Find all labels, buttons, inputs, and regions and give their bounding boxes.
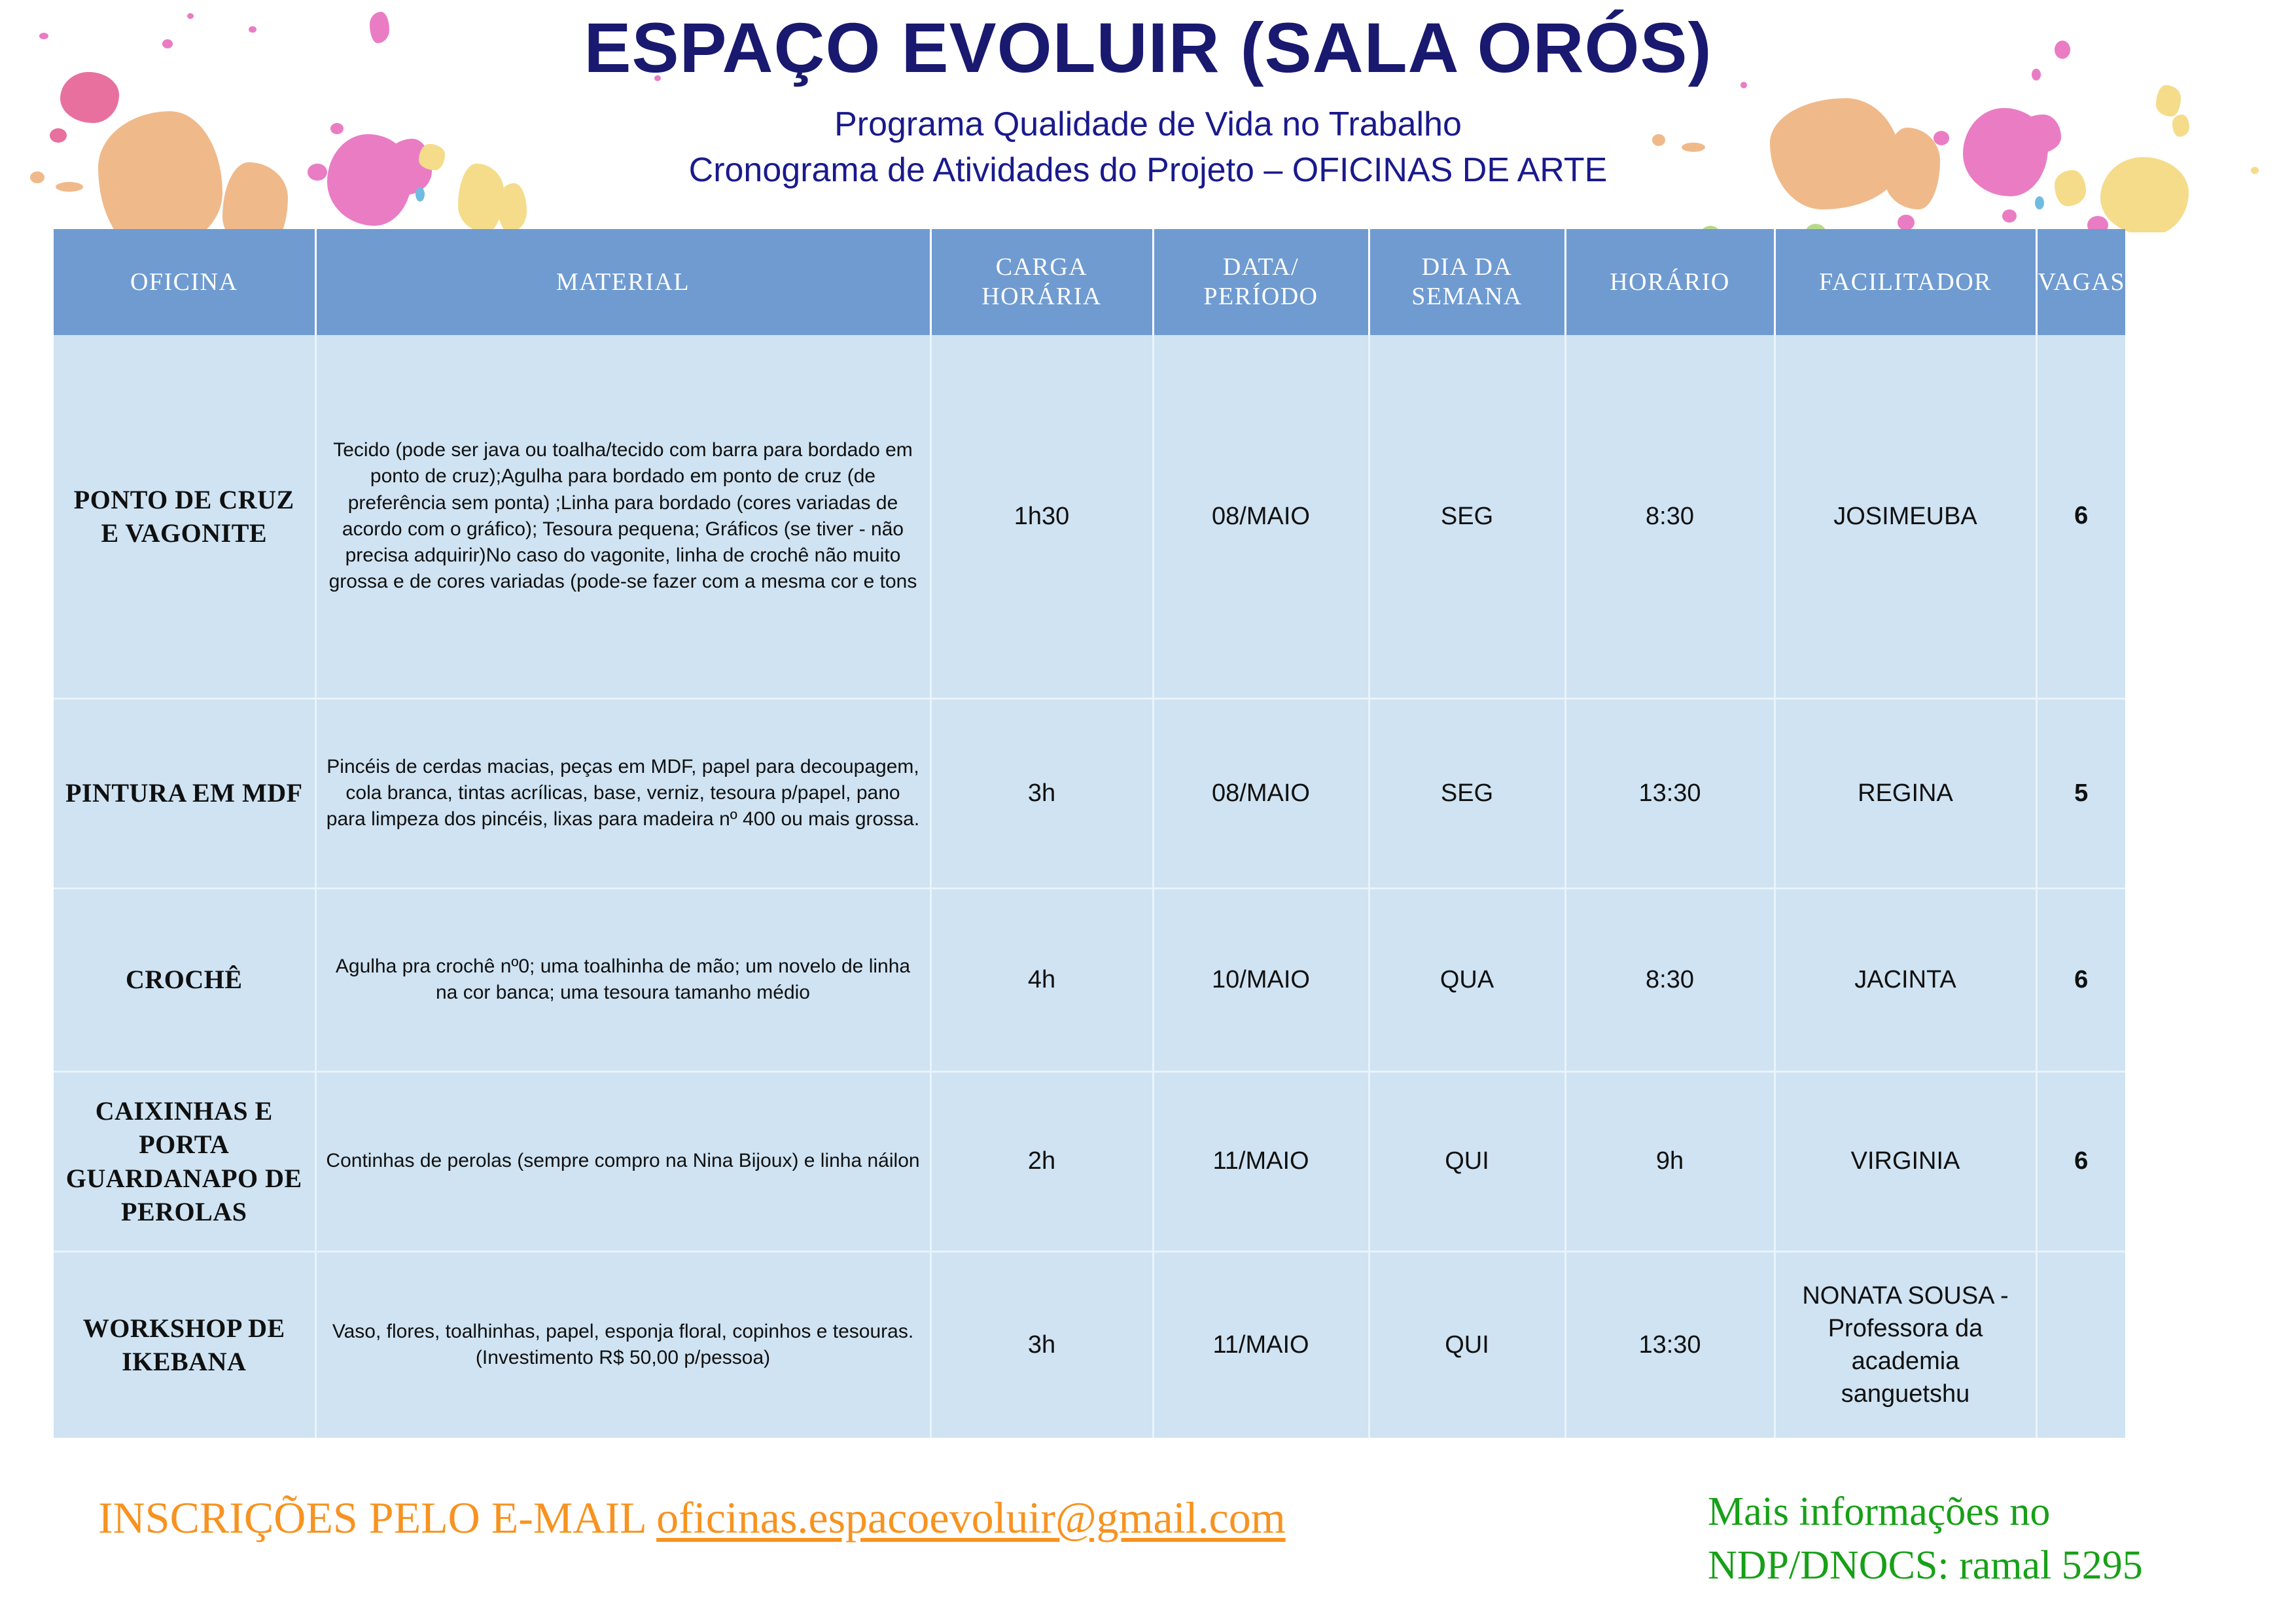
cell-facilitador: JOSIMEUBA	[1775, 335, 2036, 698]
column-header-vagas: VAGAS	[2036, 229, 2125, 335]
schedule-table: OFICINA MATERIAL CARGA HORÁRIA DATA/ PER…	[54, 229, 2125, 1438]
table-header-row: OFICINA MATERIAL CARGA HORÁRIA DATA/ PER…	[54, 229, 2125, 335]
column-header-carga-horaria: CARGA HORÁRIA	[930, 229, 1153, 335]
table-row: CROCHÊ Agulha pra crochê nº0; uma toalhi…	[54, 888, 2125, 1071]
cell-vagas	[2036, 1251, 2125, 1438]
table-body: PONTO DE CRUZ E VAGONITE Tecido (pode se…	[54, 335, 2125, 1438]
column-header-carga-line1: CARGA	[996, 253, 1088, 281]
column-header-carga-line2: HORÁRIA	[981, 283, 1102, 310]
schedule-table-container: OFICINA MATERIAL CARGA HORÁRIA DATA/ PER…	[54, 229, 2125, 1438]
cell-dia-semana: SEG	[1369, 698, 1565, 888]
cell-facilitador: VIRGINIA	[1775, 1071, 2036, 1251]
schedule-subtitle: Cronograma de Atividades do Projeto – OF…	[0, 147, 2296, 193]
cell-data-periodo: 10/MAIO	[1153, 888, 1369, 1071]
splatter-dot	[2035, 196, 2044, 209]
cell-horario: 13:30	[1565, 698, 1775, 888]
cell-horario: 8:30	[1565, 888, 1775, 1071]
cell-vagas: 6	[2036, 1071, 2125, 1251]
cell-oficina: PINTURA EM MDF	[54, 698, 315, 888]
cell-carga-horaria: 3h	[930, 698, 1153, 888]
column-header-horario: HORÁRIO	[1565, 229, 1775, 335]
column-header-data-periodo: DATA/ PERÍODO	[1153, 229, 1369, 335]
column-header-material: MATERIAL	[315, 229, 930, 335]
cell-data-periodo: 11/MAIO	[1153, 1251, 1369, 1438]
cell-carga-horaria: 3h	[930, 1251, 1153, 1438]
table-row: PINTURA EM MDF Pincéis de cerdas macias,…	[54, 698, 2125, 888]
cell-carga-horaria: 4h	[930, 888, 1153, 1071]
inscricoes-label: INSCRIÇÕES PELO E-MAIL	[98, 1493, 645, 1543]
cell-dia-semana: QUI	[1369, 1071, 1565, 1251]
splatter-dot	[1898, 215, 1915, 230]
column-header-oficina: OFICINA	[54, 229, 315, 335]
more-info-line2: NDP/DNOCS: ramal 5295	[1708, 1539, 2143, 1593]
header-titles: ESPAÇO EVOLUIR (SALA ORÓS) Programa Qual…	[0, 0, 2296, 193]
cell-oficina: CROCHÊ	[54, 888, 315, 1071]
cell-vagas: 6	[2036, 335, 2125, 698]
table-row: PONTO DE CRUZ E VAGONITE Tecido (pode se…	[54, 335, 2125, 698]
page-title: ESPAÇO EVOLUIR (SALA ORÓS)	[0, 9, 2296, 87]
cell-material: Vaso, flores, toalhinhas, papel, esponja…	[315, 1251, 930, 1438]
cell-data-periodo: 08/MAIO	[1153, 698, 1369, 888]
cell-vagas: 5	[2036, 698, 2125, 888]
cell-facilitador: JACINTA	[1775, 888, 2036, 1071]
cell-material: Agulha pra crochê nº0; uma toalhinha de …	[315, 888, 930, 1071]
column-header-dia-line1: DIA DA	[1422, 253, 1513, 281]
table-row: WORKSHOP DE IKEBANA Vaso, flores, toalhi…	[54, 1251, 2125, 1438]
column-header-data-line1: DATA/	[1223, 253, 1299, 281]
more-info-line1: Mais informações no	[1708, 1486, 2143, 1539]
program-subtitle: Programa Qualidade de Vida no Trabalho	[0, 101, 2296, 147]
cell-carga-horaria: 2h	[930, 1071, 1153, 1251]
cell-facilitador: REGINA	[1775, 698, 2036, 888]
cell-horario: 8:30	[1565, 335, 1775, 698]
footer: INSCRIÇÕES PELO E-MAIL oficinas.espacoev…	[0, 1486, 2296, 1623]
inscricoes-line: INSCRIÇÕES PELO E-MAIL oficinas.espacoev…	[98, 1492, 1286, 1544]
more-info-block: Mais informações no NDP/DNOCS: ramal 529…	[1708, 1486, 2143, 1593]
column-header-dia-line2: SEMANA	[1411, 283, 1522, 310]
cell-data-periodo: 11/MAIO	[1153, 1071, 1369, 1251]
splatter-dot	[2002, 209, 2017, 223]
cell-facilitador: NONATA SOUSA - Professora da academia sa…	[1775, 1251, 2036, 1438]
cell-vagas: 6	[2036, 888, 2125, 1071]
cell-horario: 9h	[1565, 1071, 1775, 1251]
email-link[interactable]: oficinas.espacoevoluir@gmail.com	[656, 1493, 1285, 1543]
cell-material: Pincéis de cerdas macias, peças em MDF, …	[315, 698, 930, 888]
cell-dia-semana: QUI	[1369, 1251, 1565, 1438]
cell-material: Tecido (pode ser java ou toalha/tecido c…	[315, 335, 930, 698]
cell-data-periodo: 08/MAIO	[1153, 335, 1369, 698]
cell-oficina: CAIXINHAS E PORTA GUARDANAPO DE PEROLAS	[54, 1071, 315, 1251]
cell-dia-semana: SEG	[1369, 335, 1565, 698]
cell-horario: 13:30	[1565, 1251, 1775, 1438]
table-row: CAIXINHAS E PORTA GUARDANAPO DE PEROLAS …	[54, 1071, 2125, 1251]
cell-oficina: WORKSHOP DE IKEBANA	[54, 1251, 315, 1438]
cell-material: Continhas de perolas (sempre compro na N…	[315, 1071, 930, 1251]
cell-carga-horaria: 1h30	[930, 335, 1153, 698]
cell-oficina: PONTO DE CRUZ E VAGONITE	[54, 335, 315, 698]
cell-dia-semana: QUA	[1369, 888, 1565, 1071]
column-header-data-line2: PERÍODO	[1203, 283, 1318, 310]
column-header-facilitador: FACILITADOR	[1775, 229, 2036, 335]
column-header-dia-semana: DIA DA SEMANA	[1369, 229, 1565, 335]
